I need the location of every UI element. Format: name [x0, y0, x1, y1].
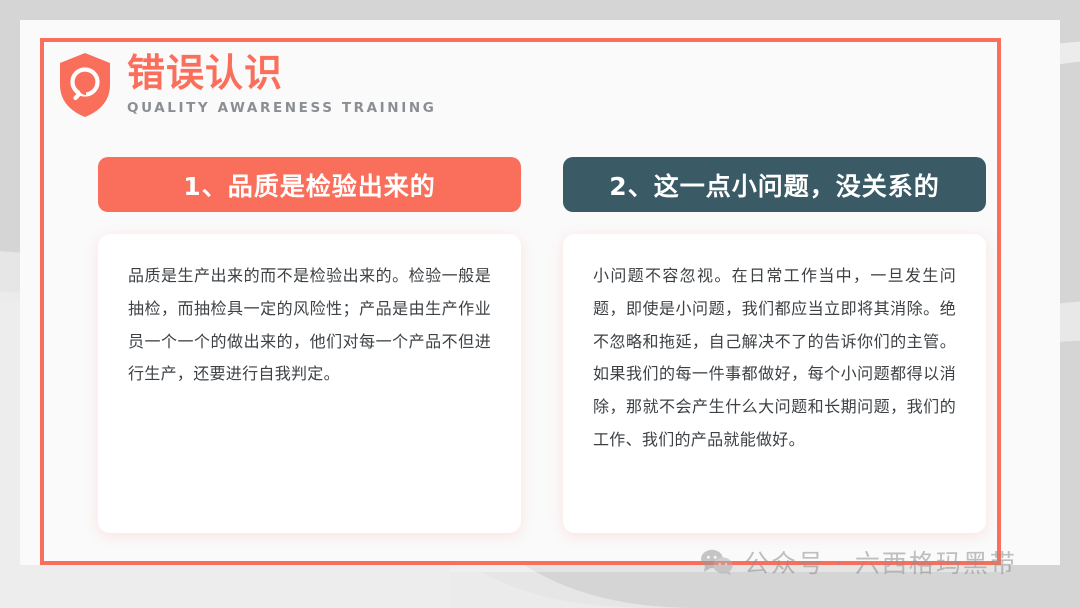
wechat-icon [700, 548, 734, 576]
slide-header: 错误认识 QUALITY AWARENESS TRAINING [57, 52, 436, 118]
content-card-1: 品质是生产出来的而不是检验出来的。检验一般是抽检，而抽检具一定的风险性；产品是由… [98, 234, 521, 533]
column-2: 2、这一点小问题，没关系的 小问题不容忽视。在日常工作当中，一旦发生问题，即使是… [563, 157, 986, 533]
page-subtitle-en: QUALITY AWARENESS TRAINING [127, 100, 436, 116]
content-card-2: 小问题不容忽视。在日常工作当中，一旦发生问题，即使是小问题，我们都应当立即将其消… [563, 234, 986, 533]
watermark: 公众号 · 六西格玛黑带 [700, 544, 1017, 580]
content-card-2-text: 小问题不容忽视。在日常工作当中，一旦发生问题，即使是小问题，我们都应当立即将其消… [593, 260, 956, 457]
section-header-1[interactable]: 1、品质是检验出来的 [98, 157, 521, 212]
content-card-1-text: 品质是生产出来的而不是检验出来的。检验一般是抽检，而抽检具一定的风险性；产品是由… [128, 260, 491, 391]
column-1: 1、品质是检验出来的 品质是生产出来的而不是检验出来的。检验一般是抽检，而抽检具… [98, 157, 521, 533]
header-title-block: 错误认识 QUALITY AWARENESS TRAINING [127, 54, 436, 117]
page-title-cn: 错误认识 [127, 54, 436, 94]
watermark-text: 公众号 · 六西格玛黑带 [744, 544, 1017, 580]
shield-search-icon [57, 52, 113, 118]
content-columns: 1、品质是检验出来的 品质是生产出来的而不是检验出来的。检验一般是抽检，而抽检具… [98, 157, 986, 533]
section-header-2[interactable]: 2、这一点小问题，没关系的 [563, 157, 986, 212]
